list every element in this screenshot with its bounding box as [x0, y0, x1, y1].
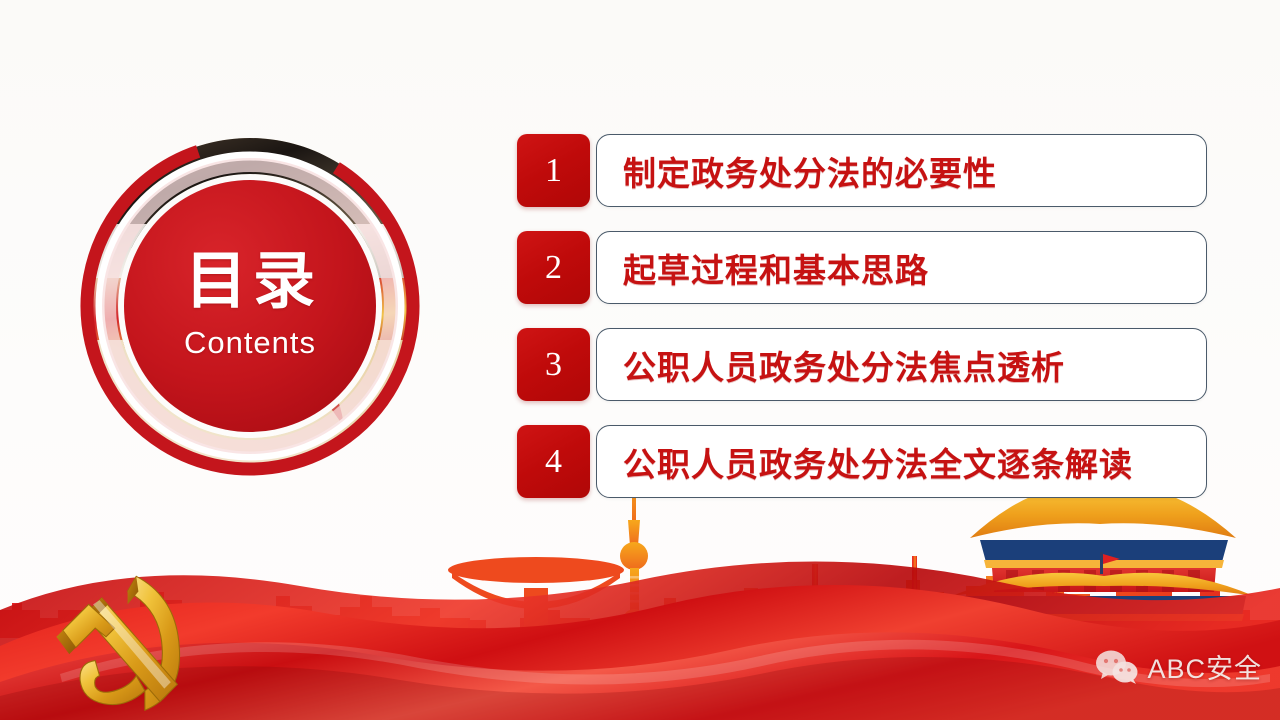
- toc-item-label: 公职人员政务处分法全文逐条解读: [623, 438, 1133, 486]
- toc-item-2[interactable]: 2 起草过程和基本思路: [517, 231, 1207, 304]
- toc-label-pill[interactable]: 制定政务处分法的必要性: [596, 134, 1207, 207]
- toc-label-pill[interactable]: 公职人员政务处分法焦点透析: [596, 328, 1207, 401]
- toc-number-badge: 1: [517, 134, 590, 207]
- bottom-artwork: [0, 460, 1280, 720]
- toc-item-4[interactable]: 4 公职人员政务处分法全文逐条解读: [517, 425, 1207, 498]
- toc-number-badge: 4: [517, 425, 590, 498]
- badge-ring-graphic: [72, 128, 428, 484]
- toc-item-3[interactable]: 3 公职人员政务处分法焦点透析: [517, 328, 1207, 401]
- toc-label-pill[interactable]: 起草过程和基本思路: [596, 231, 1207, 304]
- toc-item-label: 公职人员政务处分法焦点透析: [623, 341, 1065, 389]
- toc-item-label: 制定政务处分法的必要性: [623, 147, 997, 195]
- toc-number-badge: 2: [517, 231, 590, 304]
- toc-item-1[interactable]: 1 制定政务处分法的必要性: [517, 134, 1207, 207]
- toc-number-badge: 3: [517, 328, 590, 401]
- toc-item-label: 起草过程和基本思路: [623, 244, 929, 292]
- toc-list: 1 制定政务处分法的必要性 2 起草过程和基本思路 3 公职人员政务处分法焦点透…: [517, 134, 1207, 498]
- slide-canvas: 目录 Contents 1 制定政务处分法的必要性 2 起草过程和基本思路 3 …: [0, 0, 1280, 720]
- toc-label-pill[interactable]: 公职人员政务处分法全文逐条解读: [596, 425, 1207, 498]
- toc-badge: 目录 Contents: [72, 128, 428, 484]
